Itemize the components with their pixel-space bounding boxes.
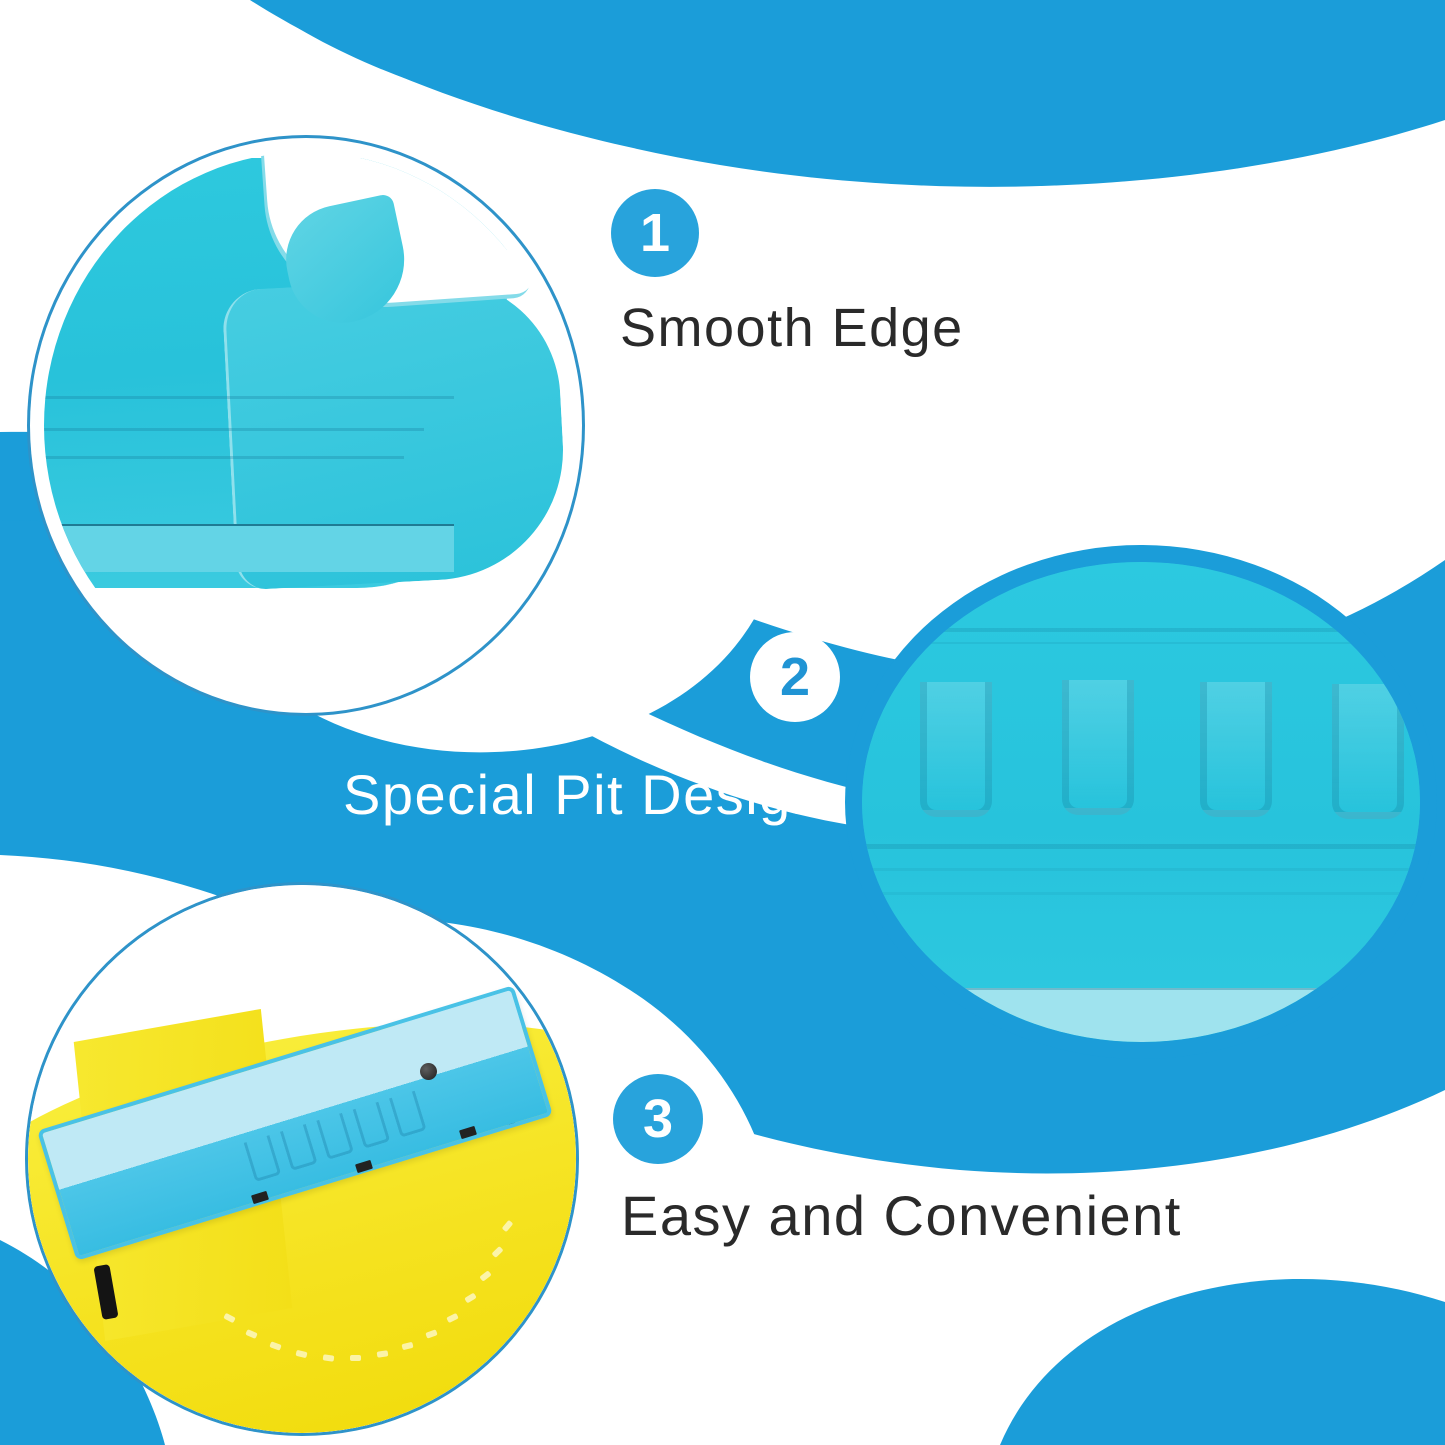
pit-groove (1062, 680, 1134, 815)
surface-ridge-line (44, 396, 454, 399)
feature-photo-special-pit-design (862, 562, 1420, 1042)
infographic-canvas: 1 2 3 Smooth Edge Special Pit Design Eas… (0, 0, 1445, 1445)
surface-ridge-line (44, 428, 424, 431)
surface-ridge-line (862, 628, 1420, 632)
pivot-rivet (420, 1063, 437, 1080)
surface-ridge-line (862, 844, 1420, 849)
wave-bottom-right-shape (1000, 1279, 1445, 1445)
feature-label-special-pit-design: Special Pit Design (343, 762, 824, 827)
pit-groove (353, 1102, 391, 1149)
feature-label-easy-and-convenient: Easy and Convenient (621, 1183, 1182, 1248)
step-number-badge-1-label: 1 (640, 206, 670, 260)
feature-photo-easy-and-convenient (28, 885, 576, 1433)
surface-ridge-line (44, 456, 404, 459)
pit-groove (389, 1091, 427, 1138)
pit-groove (1200, 682, 1272, 817)
pit-groove (280, 1124, 318, 1171)
pit-groove (244, 1135, 282, 1182)
feature-label-smooth-edge: Smooth Edge (620, 297, 964, 359)
perforation-tick (350, 1355, 361, 1361)
lower-light-edge (862, 988, 1420, 1042)
feature-photo-smooth-edge-image (44, 152, 568, 699)
step-number-badge-3-label: 3 (643, 1092, 673, 1146)
surface-ridge-line (862, 892, 1420, 895)
step-number-badge-1: 1 (611, 189, 699, 277)
smooth-bottom-edge (44, 524, 454, 572)
step-number-badge-3: 3 (613, 1074, 703, 1164)
feature-photo-easy-and-convenient-image (28, 885, 576, 1433)
step-number-badge-2: 2 (750, 632, 840, 722)
pit-groove (1332, 684, 1404, 819)
feature-photo-smooth-edge (30, 138, 582, 713)
pit-groove (920, 682, 992, 817)
step-number-badge-2-label: 2 (780, 650, 810, 704)
surface-ridge-line (862, 868, 1420, 871)
feature-photo-special-pit-design-image (862, 562, 1420, 1042)
pit-groove (316, 1113, 354, 1160)
surface-ridge-line (862, 642, 1420, 644)
